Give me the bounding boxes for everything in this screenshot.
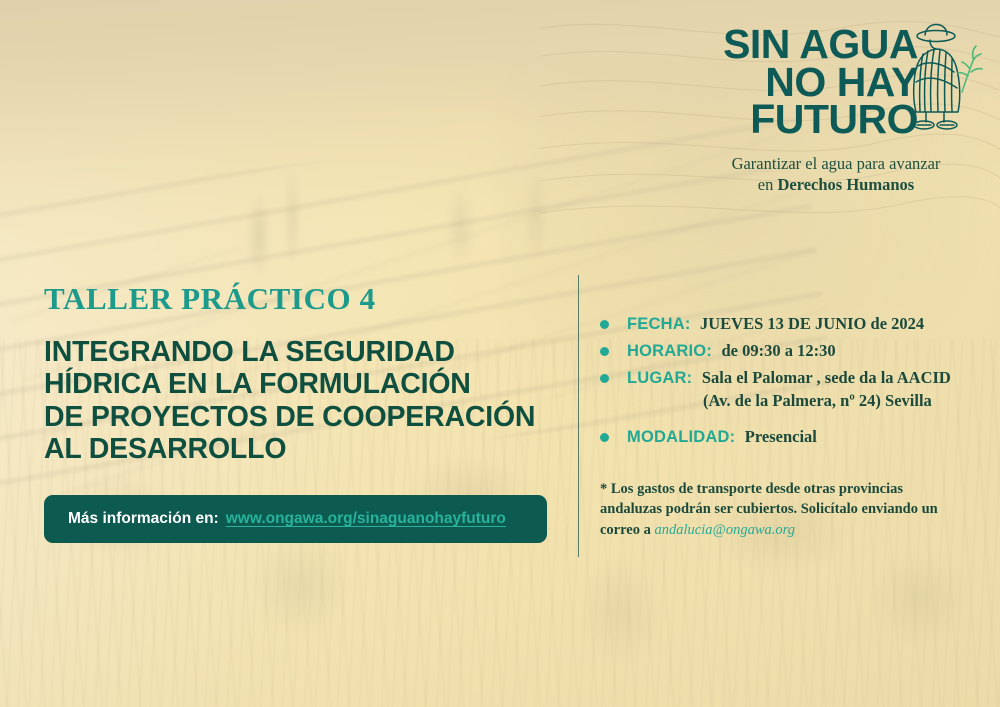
headline-line-4: AL DESARROLLO	[44, 433, 286, 465]
plant-sprig-icon	[958, 46, 982, 92]
column-divider	[578, 275, 579, 557]
detail-value-horario: de 09:30 a 12:30	[721, 341, 835, 360]
logo-tagline-strong: Derechos Humanos	[777, 175, 914, 194]
right-column: FECHA: JUEVES 13 DE JUNIO de 2024 HORARI…	[600, 313, 980, 555]
logo-line-3: FUTURO	[698, 101, 918, 139]
more-info-label: Más información en:	[68, 510, 219, 528]
detail-item-horario: HORARIO: de 09:30 a 12:30	[600, 340, 980, 363]
detail-label-lugar: LUGAR:	[627, 369, 692, 387]
detail-item-modalidad: MODALIDAD: Presencial	[600, 426, 980, 449]
left-column: TALLER PRÁCTICO 4 INTEGRANDO LA SEGURIDA…	[44, 283, 554, 543]
poster-canvas: SIN AGUA NO HAY FUTURO	[0, 0, 1000, 707]
bullet-icon	[600, 374, 609, 383]
detail-value-modalidad: Presencial	[745, 427, 817, 446]
logo-block: SIN AGUA NO HAY FUTURO	[698, 26, 974, 195]
logo-tagline-line-2: en Derechos Humanos	[698, 174, 974, 195]
headline-line-1: INTEGRANDO LA SEGURIDAD	[44, 336, 455, 368]
bullet-icon	[600, 433, 609, 442]
more-info-bar[interactable]: Más información en: www.ongawa.org/sinag…	[44, 495, 547, 543]
event-details-list: FECHA: JUEVES 13 DE JUNIO de 2024 HORARI…	[600, 313, 980, 449]
headline-line-2: HÍDRICA EN LA FORMULACIÓN	[44, 368, 471, 400]
workshop-kicker: TALLER PRÁCTICO 4	[44, 283, 554, 314]
footnote-email-link[interactable]: andalucia@ongawa.org	[654, 522, 794, 538]
page-title: INTEGRANDO LA SEGURIDAD HÍDRICA EN LA FO…	[44, 336, 554, 465]
headline-line-3: DE PROYECTOS DE COOPERACIÓN	[44, 401, 535, 433]
detail-label-modalidad: MODALIDAD:	[627, 428, 735, 446]
bullet-icon	[600, 320, 609, 329]
detail-item-fecha: FECHA: JUEVES 13 DE JUNIO de 2024	[600, 313, 980, 336]
detail-value-fecha: JUEVES 13 DE JUNIO de 2024	[700, 314, 924, 333]
logo-tagline-prefix: en	[758, 175, 778, 194]
person-with-hat-and-poncho-icon	[896, 20, 986, 138]
detail-label-fecha: FECHA:	[627, 315, 691, 333]
detail-value-lugar-line-2: (Av. de la Palmera, nº 24) Sevilla	[703, 390, 980, 411]
transport-footnote: * Los gastos de transporte desde otras p…	[600, 479, 952, 541]
detail-item-lugar: LUGAR: Sala el Palomar , sede da la AACI…	[600, 367, 980, 412]
detail-label-horario: HORARIO:	[627, 342, 712, 360]
bullet-icon	[600, 347, 609, 356]
more-info-link[interactable]: www.ongawa.org/sinaguanohayfuturo	[226, 510, 506, 528]
logo-tagline: Garantizar el agua para avanzar en Derec…	[698, 153, 974, 195]
detail-value-lugar: Sala el Palomar , sede da la AACID	[702, 368, 951, 387]
logo-tagline-line-1: Garantizar el agua para avanzar	[698, 153, 974, 174]
logo-wordmark: SIN AGUA NO HAY FUTURO	[698, 26, 974, 139]
